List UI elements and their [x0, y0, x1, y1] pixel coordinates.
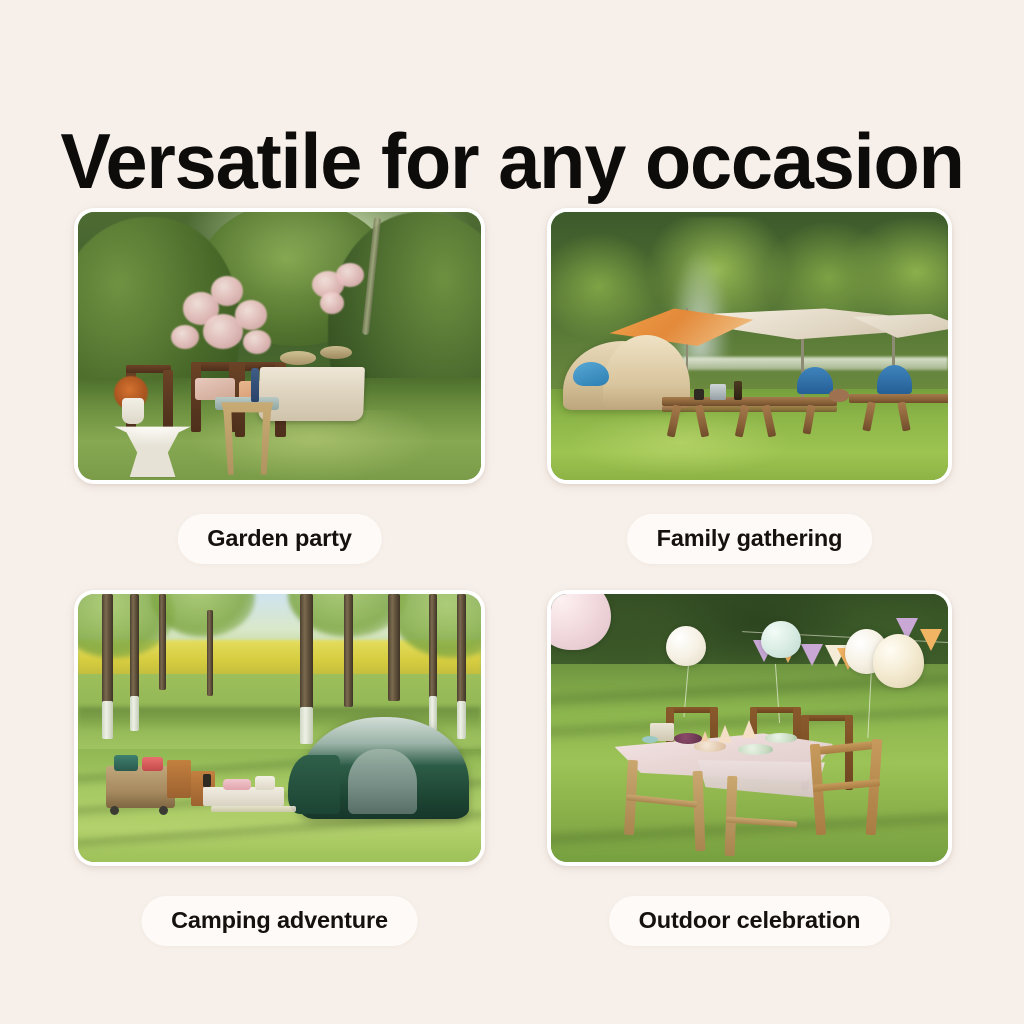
poplar-trunk — [344, 594, 353, 707]
garden-bottle — [251, 368, 259, 402]
garden-chair — [163, 370, 173, 429]
fruit-bowl — [694, 741, 726, 752]
photo-camping-adventure — [78, 594, 481, 862]
photo-frame — [74, 208, 485, 484]
poplar-trunk-whitewash — [429, 696, 438, 731]
bunting-pennant — [801, 644, 823, 666]
camp-bottle — [734, 381, 742, 400]
caption-pill-garden-party: Garden party — [177, 514, 381, 564]
hydrangea-blossom — [211, 276, 243, 305]
photo-frame — [547, 208, 952, 484]
photo-frame — [547, 590, 952, 866]
poplar-trunk — [159, 594, 166, 690]
hydrangea-blossom — [320, 292, 344, 313]
tent-window — [573, 362, 609, 386]
poplar-trunk — [429, 594, 438, 701]
camping-chair — [167, 760, 191, 798]
party-plate — [765, 733, 797, 743]
camp-sun-patch — [571, 410, 789, 474]
caption-pill-outdoor-celebration: Outdoor celebration — [609, 896, 891, 946]
camp-blue-tent — [797, 367, 833, 394]
photo-family-gathering — [551, 212, 948, 480]
party-hat — [742, 720, 756, 738]
camping-food — [255, 776, 275, 789]
picnic-mat — [211, 806, 296, 813]
hydrangea-blossom — [235, 300, 267, 329]
caption-pill-family-gathering: Family gathering — [627, 514, 873, 564]
poplar-trunk-whitewash — [457, 701, 467, 739]
camping-table — [203, 787, 284, 806]
wagon-wheel — [110, 806, 119, 815]
camping-wagon — [106, 766, 175, 809]
celebration-chair — [845, 715, 853, 790]
camping-food — [223, 779, 251, 790]
camp-kettle — [694, 389, 704, 400]
poplar-trunk — [388, 594, 399, 701]
occasion-card-outdoor-celebration[interactable]: Outdoor celebration — [547, 590, 952, 866]
camp-cooler — [710, 384, 726, 400]
caption-pill-camping-adventure: Camping adventure — [141, 896, 418, 946]
party-hat — [718, 725, 732, 743]
hydrangea-blossom — [336, 263, 364, 287]
hydrangea-blossom — [171, 325, 199, 349]
occasion-card-camping-adventure[interactable]: Camping adventure — [74, 590, 485, 866]
tent-vestibule — [288, 755, 340, 814]
poplar-trunk — [130, 594, 139, 701]
wagon-gear — [142, 757, 162, 770]
poplar-trunk — [300, 594, 314, 712]
occasion-card-family-gathering[interactable]: Family gathering — [547, 208, 952, 484]
photo-frame — [74, 590, 485, 866]
poplar-trunk — [457, 594, 467, 707]
camp-person — [829, 389, 849, 402]
photo-outdoor-celebration — [551, 594, 948, 862]
balloon-white — [666, 626, 706, 666]
poplar-trunk-whitewash — [130, 696, 139, 731]
promo-poster: Versatile for any occasion — [0, 0, 1024, 1024]
photo-garden-party — [78, 212, 481, 480]
wagon-gear — [114, 755, 138, 771]
poplar-trunk — [102, 594, 112, 707]
occasion-card-garden-party[interactable]: Garden party — [74, 208, 485, 484]
poplar-trunk-whitewash — [102, 701, 112, 739]
garden-tray — [280, 351, 316, 364]
garden-vase — [122, 398, 144, 424]
garden-table — [258, 367, 365, 421]
picnic-table — [849, 394, 948, 403]
wagon-wheel — [159, 806, 168, 815]
camp-tree-canopy — [551, 217, 948, 362]
balloon-mint — [761, 621, 801, 659]
party-plate — [738, 744, 774, 755]
occasion-grid: Garden party — [0, 0, 1024, 1024]
poplar-trunk-whitewash — [300, 707, 314, 745]
balloon-cream — [873, 634, 925, 688]
poplar-trunk — [207, 610, 213, 696]
tent-door — [348, 749, 417, 813]
bunting-pennant — [920, 629, 942, 651]
camping-kettle — [203, 774, 211, 787]
